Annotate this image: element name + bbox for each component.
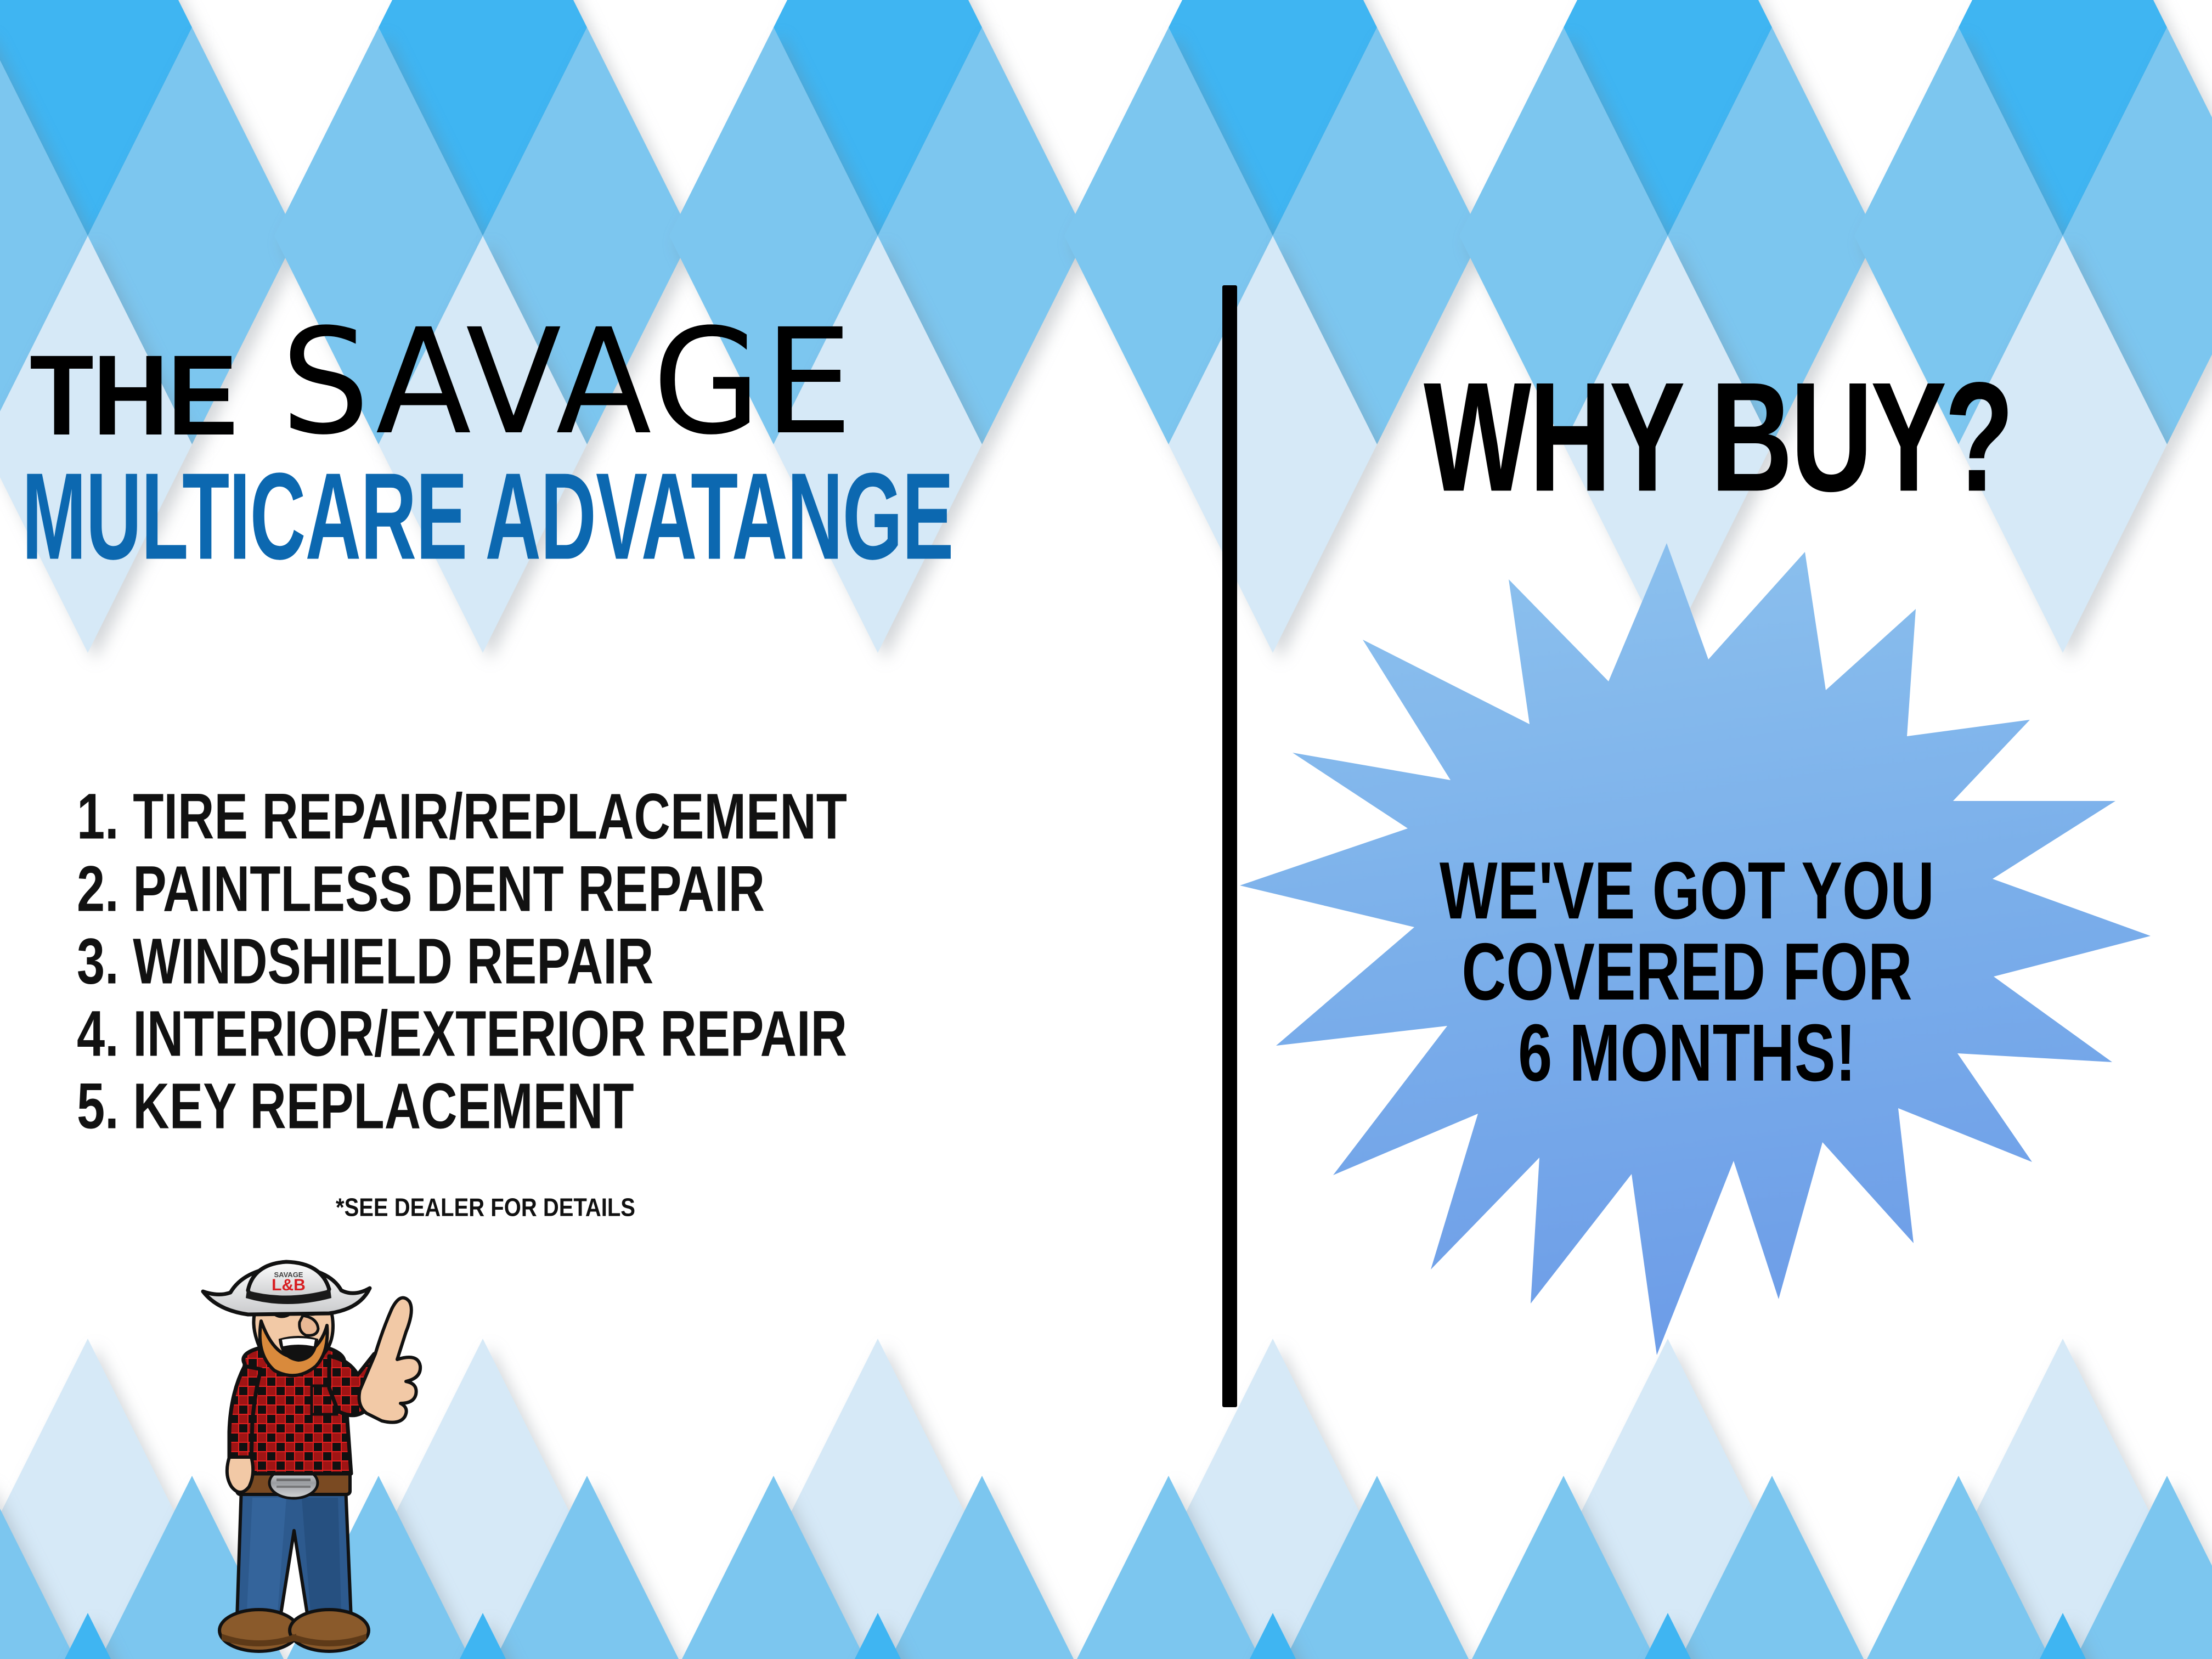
promo-headline: WHY BUY? (1424, 368, 2012, 508)
promo-poster: THE SAVAGE MULTICARE ADVATANGE 1. TIRE R… (0, 0, 2212, 1659)
list-item: 4. INTERIOR/EXTERIOR REPAIR (77, 1002, 847, 1066)
service-list: 1. TIRE REPAIR/REPLACEMENT 2. PAINTLESS … (77, 785, 847, 1147)
list-item: 3. WINDSHIELD REPAIR (77, 929, 847, 994)
program-name: MULTICARE ADVATANGE (22, 461, 953, 572)
right-panel: WHY BUY? WE'VE GOT YOU COVERED FOR 6 MON… (1237, 0, 2212, 1659)
list-item: 1. TIRE REPAIR/REPLACEMENT (77, 785, 847, 849)
left-panel: THE SAVAGE MULTICARE ADVATANGE 1. TIRE R… (0, 0, 1222, 1659)
starburst-badge: WE'VE GOT YOU COVERED FOR 6 MONTHS! (1223, 543, 2151, 1355)
list-item: 5. KEY REPLACEMENT (77, 1074, 847, 1139)
starburst-line-3: 6 MONTHS! (1223, 1013, 2151, 1094)
brand-title: THE SAVAGE (30, 329, 845, 445)
hat-logo-main-text: L&B (272, 1276, 306, 1294)
starburst-line-2: COVERED FOR (1223, 932, 2151, 1013)
starburst-text: WE'VE GOT YOU COVERED FOR 6 MONTHS! (1223, 850, 2151, 1094)
starburst-line-1: WE'VE GOT YOU (1223, 850, 2151, 932)
mascot-cowboy-illustration: SAVAGE L&B (165, 1256, 422, 1659)
disclaimer-text: *SEE DEALER FOR DETAILS (336, 1194, 635, 1222)
brand-the-label: THE (30, 347, 236, 445)
list-item: 2. PAINTLESS DENT REPAIR (77, 857, 847, 922)
brand-wordmark: SAVAGE (281, 323, 856, 442)
